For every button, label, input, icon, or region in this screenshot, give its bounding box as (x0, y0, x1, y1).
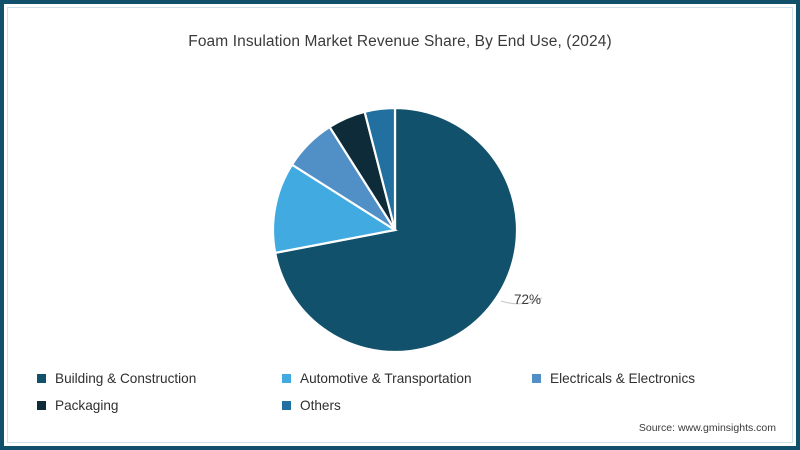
legend-label: Automotive & Transportation (300, 371, 472, 386)
legend-label: Others (300, 398, 341, 413)
legend-item-packaging[interactable]: Packaging (37, 398, 282, 413)
legend-swatch-icon (37, 401, 46, 410)
chart-title: Foam Insulation Market Revenue Share, By… (0, 33, 800, 51)
legend-label: Electricals & Electronics (550, 371, 695, 386)
legend-item-others[interactable]: Others (282, 398, 532, 413)
legend-swatch-icon (282, 401, 291, 410)
legend-label: Packaging (55, 398, 118, 413)
pie-slices (273, 108, 517, 352)
legend-label: Building & Construction (55, 371, 196, 386)
pie-data-label-72: 72% (514, 292, 541, 307)
legend-item-electricals-electronics[interactable]: Electricals & Electronics (532, 371, 762, 386)
chart-screenshot: Foam Insulation Market Revenue Share, By… (0, 0, 800, 450)
pie-chart-svg (246, 96, 566, 366)
legend-row-2: Packaging Others (37, 392, 763, 419)
legend-swatch-icon (37, 374, 46, 383)
legend-row-1: Building & Construction Automotive & Tra… (37, 365, 763, 392)
pie-chart (246, 96, 566, 366)
source-attribution: Source: www.gminsights.com (639, 422, 776, 434)
legend-swatch-icon (532, 374, 541, 383)
chart-legend: Building & Construction Automotive & Tra… (37, 365, 763, 419)
legend-item-automotive-transportation[interactable]: Automotive & Transportation (282, 371, 532, 386)
legend-swatch-icon (282, 374, 291, 383)
legend-item-building-construction[interactable]: Building & Construction (37, 371, 282, 386)
